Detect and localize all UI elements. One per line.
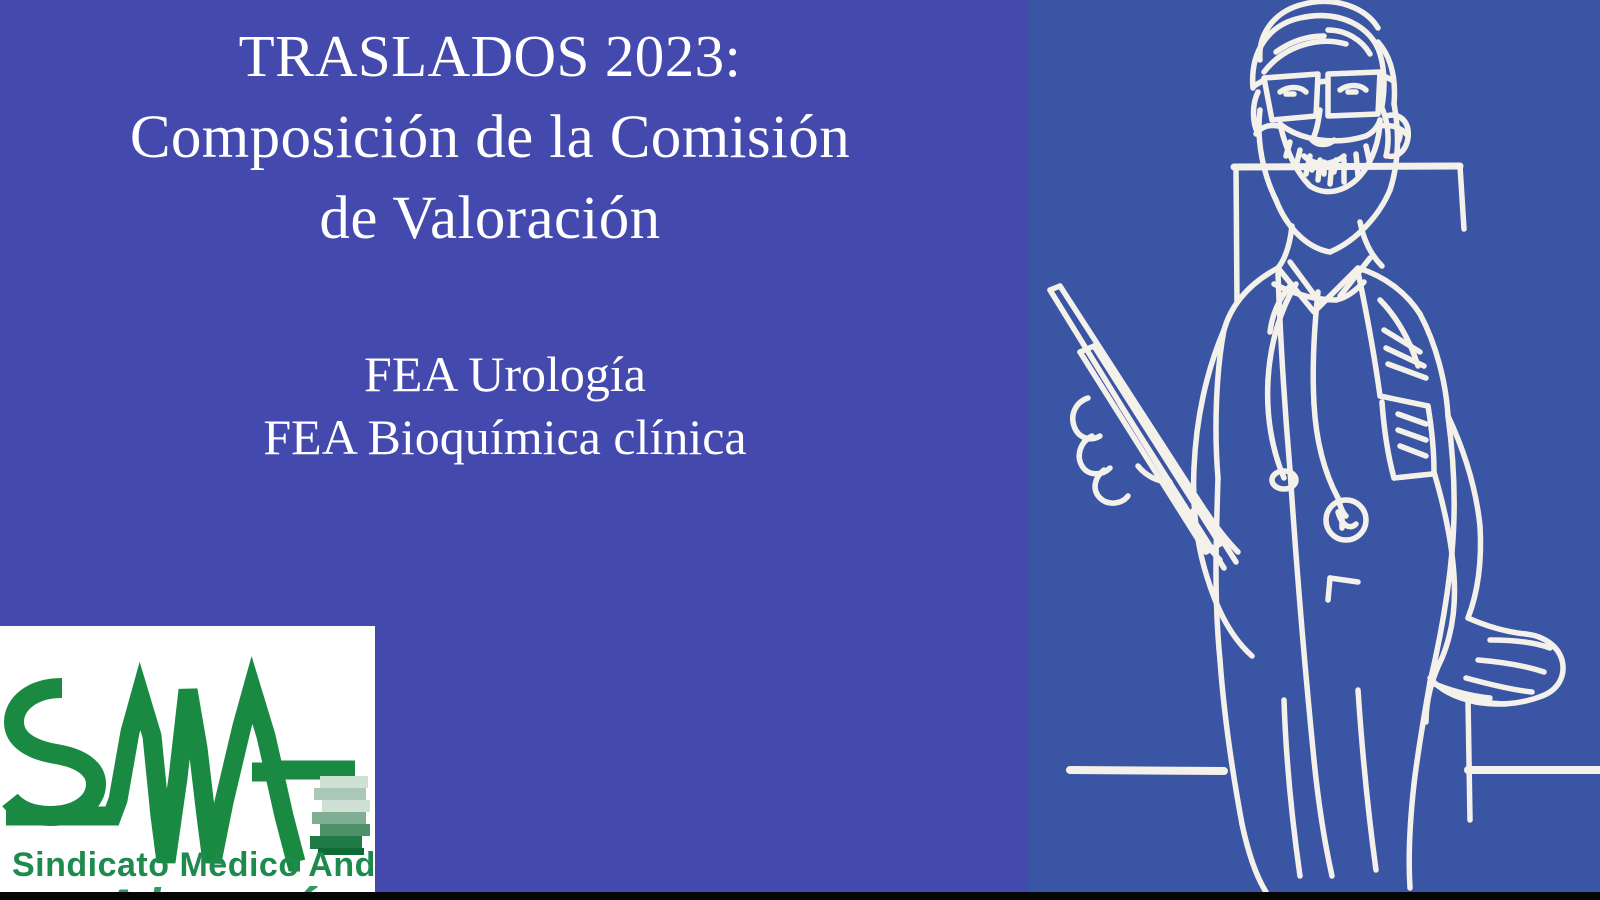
doctor-illustration-panel: [1028, 0, 1600, 892]
title-line-3: de Valoración: [0, 178, 980, 259]
slide-title: TRASLADOS 2023: Composición de la Comisi…: [0, 16, 980, 259]
logo-province-text: Almería: [88, 874, 354, 892]
presentation-slide: TRASLADOS 2023: Composición de la Comisi…: [0, 0, 1600, 900]
subtitle-line-1: FEA Urología: [0, 343, 1010, 406]
sma-logo-card: Sindicato Médico Andaluz Almería: [0, 626, 375, 892]
subtitle-line-2: FEA Bioquímica clínica: [0, 406, 1010, 469]
title-line-2: Composición de la Comisión: [0, 97, 980, 178]
title-line-1: TRASLADOS 2023:: [0, 16, 980, 97]
slide-subtitle: FEA Urología FEA Bioquímica clínica: [0, 343, 1010, 469]
bottom-black-bar: [0, 892, 1600, 900]
sma-logo-icon: Sindicato Médico Andaluz Almería: [0, 626, 375, 892]
doctor-line-art-icon: [1028, 0, 1600, 892]
